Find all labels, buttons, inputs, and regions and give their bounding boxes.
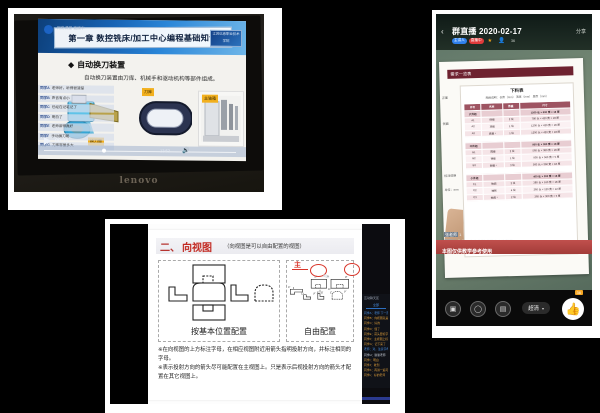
live-header: ‹ 群直播 2020-02-17 分享 主讲人 直播中 ★ 👤 36	[436, 14, 592, 50]
live-badges: 主讲人 直播中 ★ 👤 36	[452, 37, 517, 44]
heading-title: 向视图	[182, 239, 212, 254]
slide-white-area: 二、 向视图 （向视图是可以自由配置的视图）	[148, 230, 362, 400]
side-chat-line: 同学D：懂了	[364, 327, 388, 331]
speaker-icon[interactable]: 🔊	[182, 148, 189, 154]
overlay-message: 张老师 1	[444, 232, 572, 238]
basic-position-views	[159, 261, 279, 323]
side-chat-line: 老师：对，注意字母要一致	[364, 347, 388, 351]
chat-user: 同学B	[40, 96, 50, 101]
live-video-stage: 需求一览表 正面 侧面 标注说明 单位：mm 下料表 规格说明：长度（mm） 宽…	[436, 50, 592, 290]
svg-text:E: E	[316, 291, 319, 295]
live-badge: 直播中	[469, 38, 484, 44]
chevron-left-icon[interactable]: ‹	[441, 27, 444, 36]
chevron-down-icon: ▾	[542, 306, 544, 311]
side-chat-line: 同学A：老师 下一页呢	[364, 311, 388, 315]
svg-text:C: C	[330, 291, 333, 295]
figure-tag-2: 主轴箱	[202, 95, 218, 103]
heading-number: 二、	[160, 239, 180, 254]
cell: 360 长 × 300 宽 × 5 厚	[522, 192, 573, 200]
laptop-brand-logo: lenovo	[14, 176, 264, 186]
chat-user: 同学D	[40, 115, 50, 120]
chat-text: 明白了	[52, 115, 63, 120]
chat-user: 同学A	[40, 86, 50, 91]
chat-user: 同学E	[40, 124, 50, 129]
thumbs-up-icon[interactable]: 👍	[562, 298, 584, 320]
heading-note: （向视图是可以自由配置的视图）	[224, 242, 305, 250]
diamond-bullet-icon: ◆	[68, 60, 74, 69]
phone-icon[interactable]: ▤	[495, 301, 511, 317]
school-logo: 江苏信息职业技术学院	[210, 30, 242, 47]
note-line-1: ※在向视图的上方标注字母，在相应视图附近用箭头指明投射方向，并标注相同的字母。	[158, 346, 354, 364]
host-badge: 主讲人	[452, 38, 467, 44]
svg-text:E: E	[344, 275, 347, 279]
chat-line: 同学C已经在记笔记了	[38, 104, 114, 112]
chat-text: 声音有点小	[52, 96, 70, 101]
slide-description: 自动换刀装置由刀库、机械手和驱动机构等部件组成。	[84, 73, 218, 82]
slide-notes: ※在向视图的上方标注字母，在相应视图附近用箭头指明投射方向，并标注相同的字母。 …	[158, 346, 354, 382]
chat-line: 同学A老师好，听得很清楚	[38, 85, 114, 93]
side-chat-line: 同学C：好的	[364, 321, 388, 325]
cell: C3	[466, 194, 483, 201]
play-row[interactable]: 00:11	[44, 137, 69, 145]
side-note-2: 标注说明	[444, 174, 456, 178]
side-chat-line: 同学J：收到	[364, 363, 388, 367]
live-control-bar: ▣ ◯ ▤ 超清 ▾ 36 👍	[436, 290, 592, 326]
live-stream-content: ‹ 群直播 2020-02-17 分享 主讲人 直播中 ★ 👤 36 需求一览表…	[436, 14, 592, 326]
red-banner: 本图仅供教学参考使用	[436, 240, 592, 254]
camera-icon[interactable]: ▣	[445, 301, 461, 317]
red-circle-b2	[344, 263, 360, 276]
document-banner: 需求一览表	[447, 66, 573, 79]
document-banner-text: 需求一览表	[450, 66, 573, 78]
side-chat-tab[interactable]: 全部	[362, 303, 390, 307]
video-progress-bar[interactable]: 13:52 🔊	[38, 145, 246, 157]
person-icon: 👤	[496, 37, 507, 44]
chat-line: 同学B声音有点小	[38, 94, 114, 102]
school-logo-text: 江苏信息职业技术学院	[211, 31, 241, 45]
left-caption: 按基本位置配置	[159, 326, 279, 337]
progress-track[interactable]	[44, 149, 236, 153]
note-line-2: ※表示投射方向的箭头尽可能配置在主视图上。只是表示后视投射方向的箭头才配置在其它…	[158, 364, 354, 382]
overlay-text: 1	[459, 232, 461, 237]
chat-user: 同学C	[40, 105, 50, 110]
current-time: 00:11	[55, 138, 69, 144]
avatar	[44, 25, 53, 34]
right-caption: 自由配置	[287, 326, 353, 337]
chat-text: 老师好，听得很清楚	[52, 86, 84, 91]
side-chat-line: 同学H：谢谢老师	[364, 353, 388, 357]
svg-text:C: C	[288, 285, 291, 289]
laptop-screen: 第一章 数控铣床/加工中心编程基础知识 江苏信息职业技术学院 ◆自动换刀装置 自…	[38, 19, 246, 161]
like-count-badge: 36	[575, 290, 583, 295]
laptop-photo-content: 第一章 数控铣床/加工中心编程基础知识 江苏信息职业技术学院 ◆自动换刀装置 自…	[14, 14, 264, 192]
side-chat-divider	[366, 308, 386, 309]
quality-selector[interactable]: 超清 ▾	[522, 302, 550, 314]
side-note-1: 侧面	[443, 122, 449, 126]
viewer-count: 36	[509, 38, 517, 43]
live-title: 群直播 2020-02-17	[452, 26, 522, 37]
slide-section-label: 自动换刀装置	[77, 60, 125, 70]
panel-laptop-photo[interactable]: 第一章 数控铣床/加工中心编程基础知识 江苏信息职业技术学院 ◆自动换刀装置 自…	[8, 8, 282, 210]
drawing-slide-content: 二、 向视图 （向视图是可以自由配置的视图）	[110, 224, 390, 404]
chat-bubble-icon[interactable]: ◯	[470, 301, 486, 317]
side-chat-line: 同学E：箭头要标字母	[364, 332, 388, 336]
chat-line: 同学D明白了	[38, 113, 114, 121]
slide-heading-row: 二、 向视图 （向视图是可以自由配置的视图）	[156, 238, 354, 254]
stream-user-label: 网络课堂 直播中	[57, 26, 85, 31]
side-note-0: 正面	[442, 96, 448, 100]
side-chat-line: 同学K：再讲一遍可以吗	[364, 368, 388, 372]
side-chat-line: 同学B：向视图就是自由配置的	[364, 316, 388, 320]
figure-tag-1: 刀库	[142, 88, 154, 96]
left-black-bar	[110, 224, 148, 404]
basic-position-diagram: 按基本位置配置	[158, 260, 280, 342]
progress-handle[interactable]	[102, 149, 106, 153]
side-chat-line: 同学G：记下来了	[364, 342, 388, 346]
chat-text: 已经在记笔记了	[52, 105, 77, 110]
side-chat-line: 同学F：主视图上标	[364, 337, 388, 341]
blue-accent-strip	[362, 397, 390, 400]
star-icon[interactable]: ★	[486, 37, 494, 44]
svg-text:F: F	[343, 290, 346, 294]
duration-label: 13:52	[160, 148, 170, 153]
svg-text:F: F	[312, 292, 315, 296]
panel-live-stream[interactable]: ‹ 群直播 2020-02-17 分享 主讲人 直播中 ★ 👤 36 需求一览表…	[432, 10, 600, 338]
panel-drawing-slide[interactable]: 二、 向视图 （向视图是可以自由配置的视图）	[105, 219, 405, 413]
side-chat-line: 同学L：好的老师	[364, 373, 388, 377]
overlay-name: 张老师	[444, 232, 458, 237]
red-banner-text: 本图仅供教学参考使用	[442, 249, 492, 255]
slide-title: 第一章 数控铣床/加工中心编程基础知识	[68, 31, 218, 44]
chat-line: 同学E老师讲得真好	[38, 123, 114, 131]
quality-label: 超清	[528, 304, 539, 312]
cell: 抽底 *	[483, 193, 504, 200]
cell: 2 块	[505, 193, 522, 200]
collage-canvas: 第一章 数控铣床/加工中心编程基础知识 江苏信息职业技术学院 ◆自动换刀装置 自…	[0, 0, 600, 413]
slide-section-heading: ◆自动换刀装置	[68, 59, 125, 71]
side-chat-line: 同学I：明白	[364, 358, 388, 362]
chat-text: 老师讲得真好	[52, 124, 74, 129]
side-chat-panel[interactable]: 互动聊天区 全部 同学A：老师 下一页呢 同学B：向视图就是自由配置的 同学C：…	[362, 294, 390, 388]
red-underline	[292, 269, 308, 270]
side-note-3: 单位：mm	[445, 188, 459, 192]
play-icon[interactable]	[44, 137, 51, 145]
side-chat-title: 互动聊天区	[364, 296, 390, 300]
svg-text:E: E	[320, 291, 323, 295]
figure-tool-magazine	[134, 96, 192, 141]
share-label[interactable]: 分享	[576, 28, 586, 35]
requirements-table: 件号 名称 数量 尺寸 大件组	[463, 100, 573, 201]
